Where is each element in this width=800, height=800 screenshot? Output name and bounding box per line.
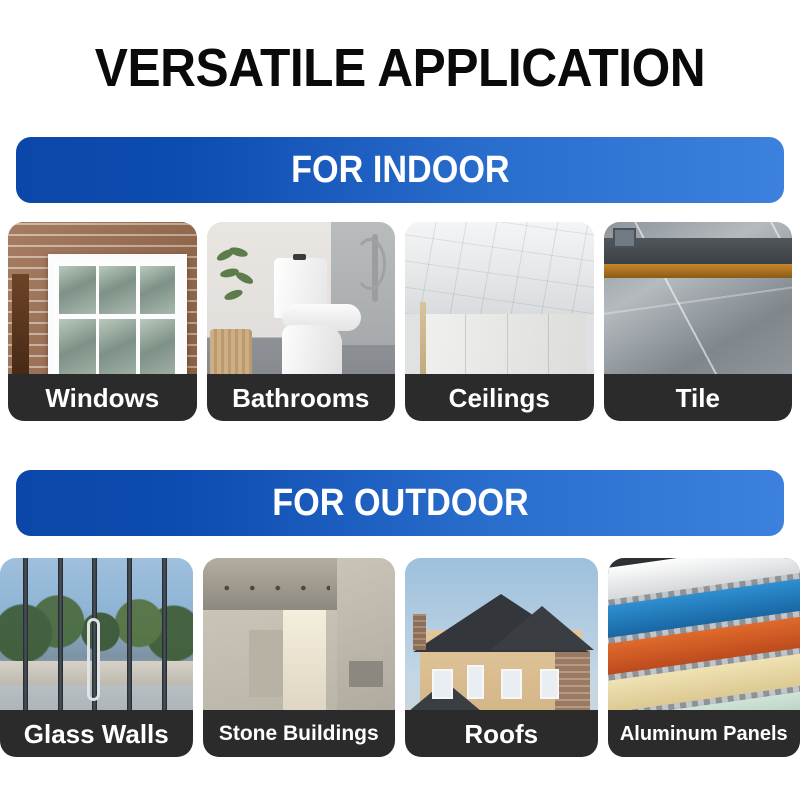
card-glass-walls[interactable]: Glass Walls (0, 558, 193, 757)
card-bathrooms-caption: Bathrooms (207, 374, 396, 421)
section-banner-indoor: FOR INDOOR (16, 137, 784, 203)
card-tile[interactable]: Tile (604, 222, 793, 421)
card-tile-label: Tile (676, 384, 720, 412)
section-banner-indoor-label: FOR INDOOR (291, 150, 510, 190)
card-stone-buildings-label: Stone Buildings (219, 720, 379, 748)
card-aluminum-panels[interactable]: Aluminum Panels (608, 558, 800, 757)
section-banner-outdoor-label: FOR OUTDOOR (272, 483, 528, 523)
page-title: VERSATILE APPLICATION (32, 38, 768, 98)
card-bathrooms-label: Bathrooms (232, 384, 369, 412)
card-row-outdoor: Glass Walls Stone Buildings (0, 558, 800, 757)
card-row-indoor: Windows (8, 222, 792, 421)
card-ceilings-label: Ceilings (449, 384, 550, 412)
card-roofs[interactable]: Roofs (405, 558, 598, 757)
card-windows-caption: Windows (8, 374, 197, 421)
section-banner-outdoor: FOR OUTDOOR (16, 470, 784, 536)
card-roofs-caption: Roofs (405, 710, 598, 757)
card-ceilings-caption: Ceilings (405, 374, 594, 421)
card-tile-caption: Tile (604, 374, 793, 421)
card-aluminum-panels-caption: Aluminum Panels (608, 710, 800, 757)
card-bathrooms[interactable]: Bathrooms (207, 222, 396, 421)
infographic-page: VERSATILE APPLICATION FOR INDOOR Windows (0, 0, 800, 800)
card-glass-walls-label: Glass Walls (24, 720, 169, 748)
card-aluminum-panels-label: Aluminum Panels (620, 720, 788, 748)
card-ceilings[interactable]: Ceilings (405, 222, 594, 421)
card-glass-walls-caption: Glass Walls (0, 710, 193, 757)
card-roofs-label: Roofs (464, 720, 538, 748)
card-windows[interactable]: Windows (8, 222, 197, 421)
card-stone-buildings[interactable]: Stone Buildings (203, 558, 396, 757)
card-windows-label: Windows (45, 384, 159, 412)
card-stone-buildings-caption: Stone Buildings (203, 710, 396, 757)
